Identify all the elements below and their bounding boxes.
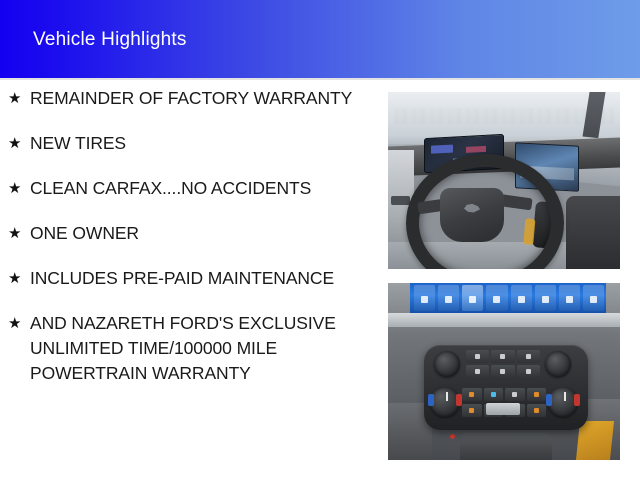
screen-tile — [414, 285, 435, 311]
vehicle-photo-column — [388, 92, 620, 460]
climate-button — [466, 350, 489, 363]
control-plate — [486, 403, 520, 415]
list-item: ★ INCLUDES PRE-PAID MAINTENANCE — [0, 266, 378, 291]
passenger-seat — [566, 196, 620, 269]
screen-tile — [438, 285, 459, 311]
climate-button — [517, 350, 540, 363]
climate-button — [517, 365, 540, 378]
list-item: ★ AND NAZARETH FORD'S EXCLUSIVE UNLIMITE… — [0, 311, 378, 386]
hot-indicator — [574, 394, 580, 406]
highlight-text: INCLUDES PRE-PAID MAINTENANCE — [30, 266, 378, 291]
cold-indicator — [428, 394, 434, 406]
highlight-text: CLEAN CARFAX....NO ACCIDENTS — [30, 176, 378, 201]
vehicle-highlights-list: ★ REMAINDER OF FACTORY WARRANTY ★ NEW TI… — [0, 86, 378, 406]
climate-button — [491, 350, 514, 363]
infotainment-tile-row — [414, 285, 604, 311]
highlight-text: ONE OWNER — [30, 221, 378, 246]
yellow-accent-trim — [576, 421, 614, 460]
dashboard-trim — [388, 313, 620, 327]
star-icon: ★ — [8, 266, 30, 291]
climate-button-row — [466, 365, 540, 378]
temperature-knob-right — [548, 387, 578, 417]
climate-button — [505, 388, 525, 401]
list-item: ★ NEW TIRES — [0, 131, 378, 156]
center-console — [460, 433, 552, 460]
screen-tile — [583, 285, 604, 311]
list-item: ★ CLEAN CARFAX....NO ACCIDENTS — [0, 176, 378, 201]
temperature-knob-left — [430, 387, 460, 417]
climate-button — [462, 404, 482, 417]
list-item: ★ ONE OWNER — [0, 221, 378, 246]
climate-button — [527, 404, 547, 417]
fan-knob — [434, 351, 460, 377]
vehicle-interior-center-console-photo[interactable] — [388, 283, 620, 460]
highlight-text: NEW TIRES — [30, 131, 378, 156]
page-header: Vehicle Highlights — [0, 0, 640, 78]
screen-tile — [486, 285, 507, 311]
highlight-text: REMAINDER OF FACTORY WARRANTY — [30, 86, 378, 111]
star-icon: ★ — [8, 221, 30, 246]
list-item: ★ REMAINDER OF FACTORY WARRANTY — [0, 86, 378, 111]
page-title: Vehicle Highlights — [33, 29, 187, 51]
climate-button-row — [462, 388, 546, 401]
screen-tile — [511, 285, 532, 311]
screen-tile-selected — [462, 285, 483, 311]
vehicle-interior-dashboard-photo[interactable] — [388, 92, 620, 269]
cold-indicator — [546, 394, 552, 406]
climate-button — [491, 365, 514, 378]
climate-button — [484, 388, 504, 401]
steering-wheel-hub — [440, 188, 504, 242]
highlight-text: AND NAZARETH FORD'S EXCLUSIVE UNLIMITED … — [30, 311, 378, 386]
climate-button — [466, 365, 489, 378]
star-icon: ★ — [8, 131, 30, 156]
mode-knob — [545, 351, 571, 377]
screen-tile — [559, 285, 580, 311]
star-icon: ★ — [8, 86, 30, 111]
star-icon: ★ — [8, 311, 30, 336]
climate-button — [462, 388, 482, 401]
star-icon: ★ — [8, 176, 30, 201]
climate-button — [527, 388, 547, 401]
climate-button-row — [466, 350, 540, 363]
indicator-led — [450, 434, 455, 439]
screen-tile — [535, 285, 556, 311]
header-divider — [0, 78, 640, 80]
